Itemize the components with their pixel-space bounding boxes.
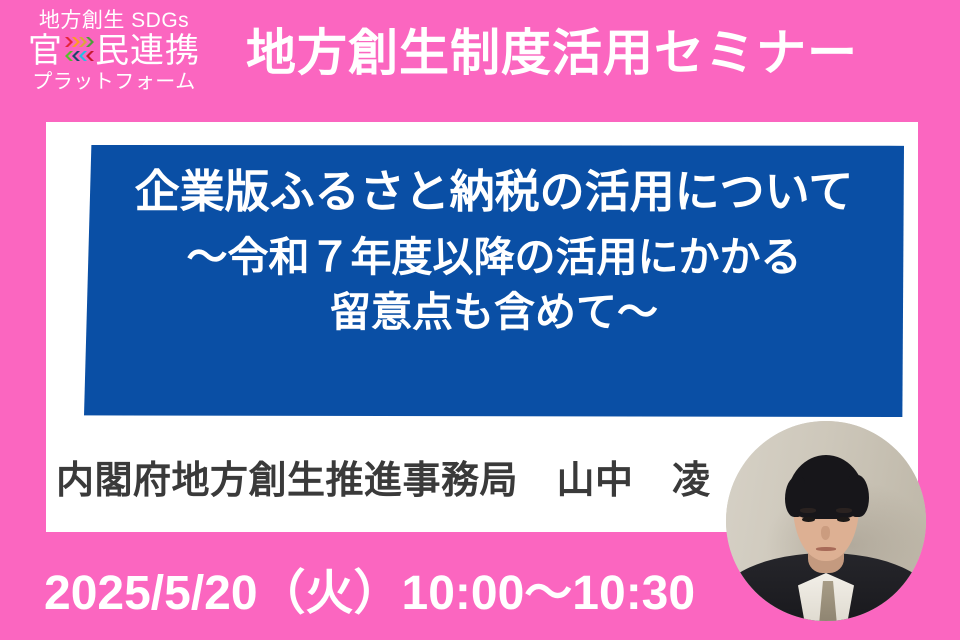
logo-line-kanmin: 官 民連携 — [14, 34, 214, 68]
main-title-line-2: 〜令和７年度以降の活用にかかる — [187, 231, 802, 284]
seminar-date-time: 2025/5/20（火）10:00〜10:30 — [44, 553, 695, 623]
portrait-mouth — [816, 547, 836, 551]
platform-logo: 地方創生 SDGs 官 民連携 — [14, 10, 214, 102]
main-title-panel: 企業版ふるさと納税の活用について 〜令和７年度以降の活用にかかる 留意点も含めて… — [84, 145, 904, 417]
main-title-line-1: 企業版ふるさと納税の活用について — [135, 163, 854, 221]
public-private-arrows-icon — [63, 34, 95, 68]
main-title-line-3: 留意点も含めて〜 — [330, 286, 658, 339]
logo-kanji-kan: 官 — [28, 32, 63, 70]
logo-line-platform: プラットフォーム — [14, 72, 214, 92]
portrait-eyebrow-left — [800, 508, 816, 513]
speaker-affiliation-and-name: 内閣府地方創生推進事務局 山中 凌 — [56, 449, 736, 504]
seminar-header-title: 地方創生制度活用セミナー — [246, 26, 936, 81]
portrait-photo — [726, 421, 926, 621]
logo-line-sdgs: 地方創生 SDGs — [14, 10, 214, 31]
logo-kanji-minrenkei: 民連携 — [95, 32, 200, 70]
speaker-portrait-avatar — [726, 421, 926, 621]
portrait-eyebrow-right — [836, 508, 852, 513]
seminar-slide: 地方創生 SDGs 官 民連携 — [0, 0, 960, 640]
